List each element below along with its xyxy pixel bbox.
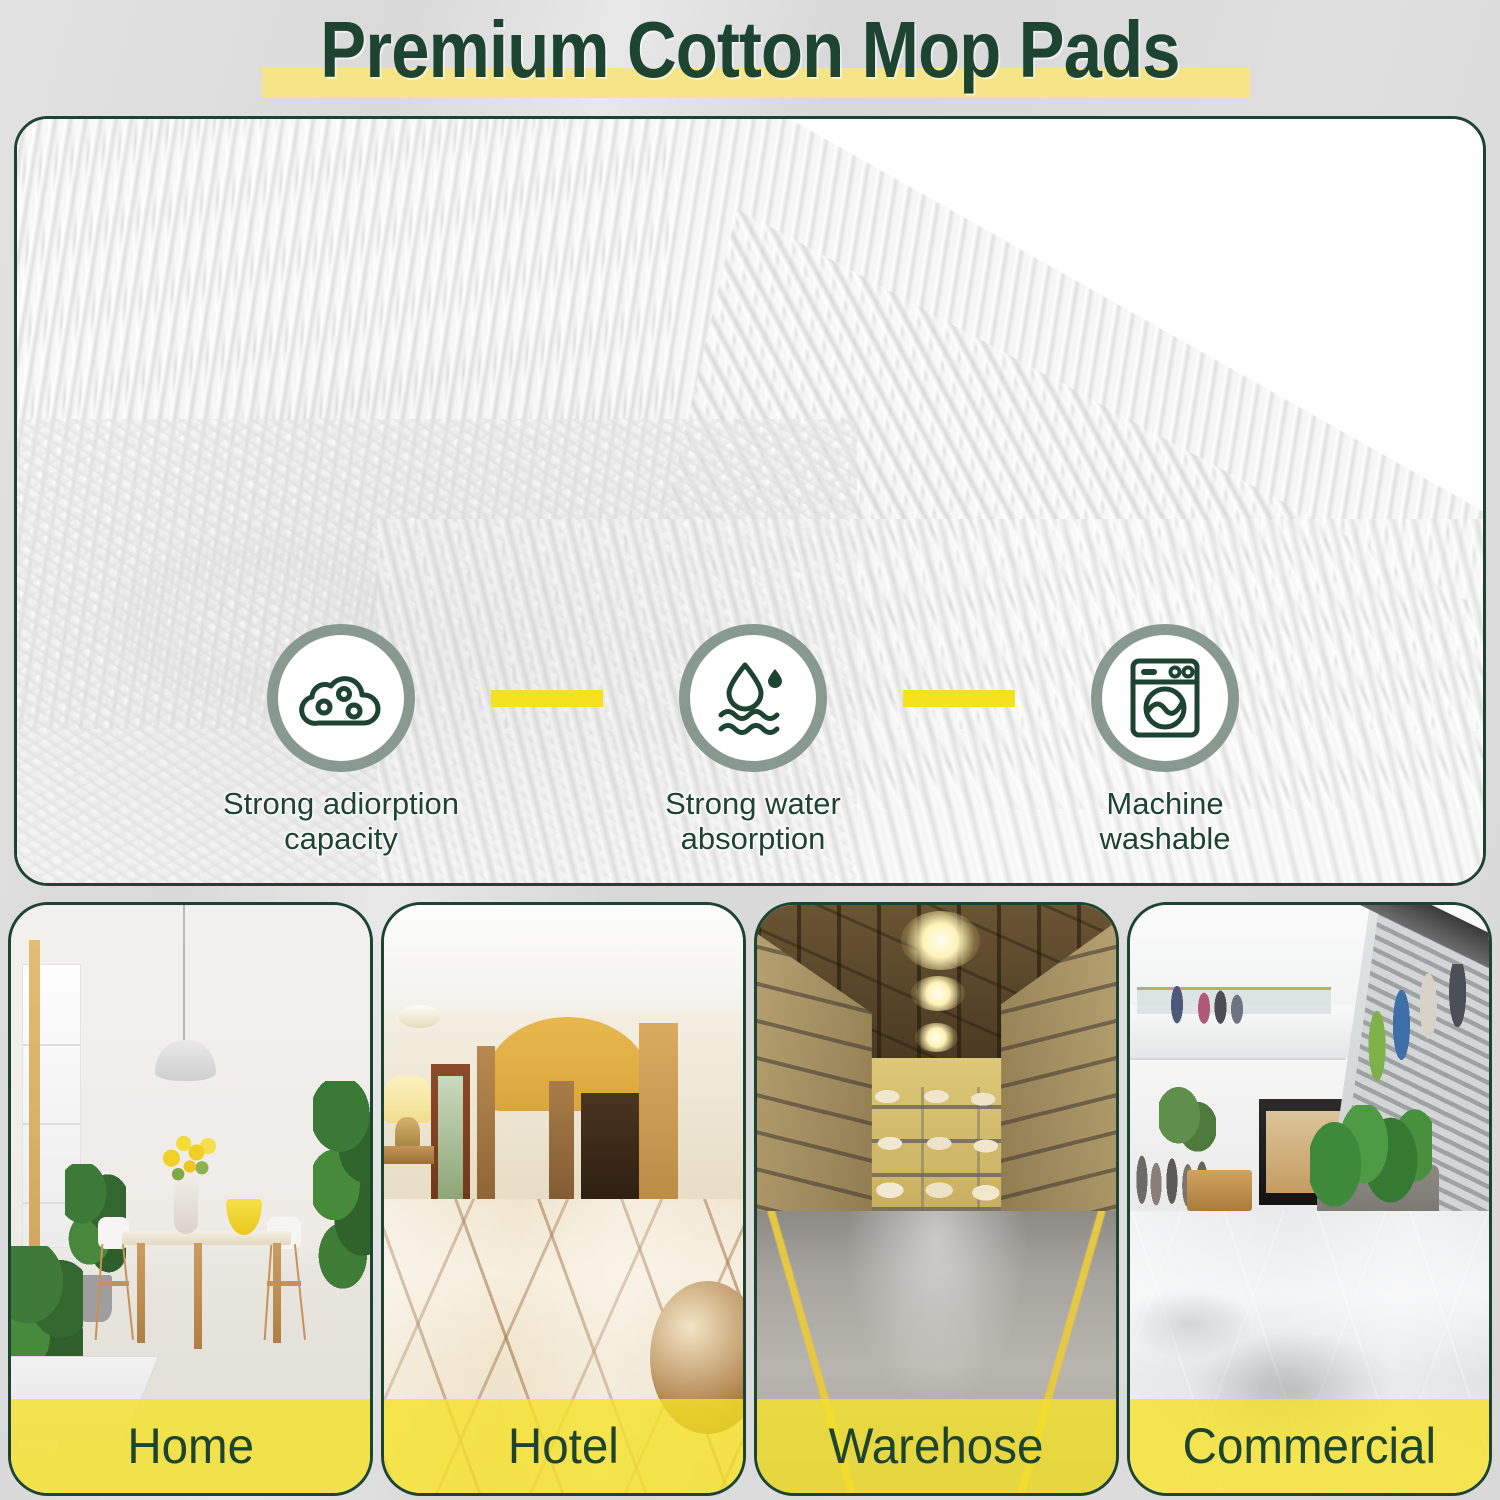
feature-adsorption: Strong adiorption capacity [191, 624, 491, 856]
feature-water-absorption: Strong water absorption [603, 624, 903, 856]
scene-panel-home[interactable]: Home [8, 902, 373, 1496]
use-case-panels: Home [8, 902, 1492, 1496]
product-infographic: Premium Cotton Mop Pads [0, 0, 1500, 1500]
feature-icon-circle [1091, 624, 1239, 772]
scene-label-band: Hotel [384, 1399, 743, 1493]
feature-machine-washable: Machine washable [1015, 624, 1315, 856]
washing-machine-icon [1125, 656, 1205, 740]
feature-label: Strong adiorption capacity [223, 786, 459, 856]
scene-panel-warehouse[interactable]: Warehose [754, 902, 1119, 1496]
scene-label-warehouse: Warehose [829, 1417, 1044, 1475]
feature-label: Strong water absorption [665, 786, 841, 856]
feature-row: Strong adiorption capacity [17, 624, 1486, 886]
dust-cloud-icon [298, 663, 384, 733]
scene-label-band: Warehose [757, 1399, 1116, 1493]
scene-label-hotel: Hotel [508, 1417, 619, 1475]
scene-label-band: Home [11, 1399, 370, 1493]
feature-label: Machine washable [1100, 786, 1231, 856]
scene-label-commercial: Commercial [1183, 1417, 1436, 1475]
connector-dash-1 [491, 690, 603, 707]
scene-label-band: Commercial [1130, 1399, 1489, 1493]
title-banner: Premium Cotton Mop Pads [0, 0, 1500, 112]
page-title: Premium Cotton Mop Pads [105, 2, 1395, 98]
scene-label-home: Home [127, 1417, 254, 1475]
feature-icon-circle [679, 624, 827, 772]
scene-panel-hotel[interactable]: Hotel [381, 902, 746, 1496]
feature-icon-circle [267, 624, 415, 772]
scene-panel-commercial[interactable]: Commercial [1127, 902, 1492, 1496]
hero-product-panel: Strong adiorption capacity [14, 116, 1486, 886]
connector-dash-2 [903, 690, 1015, 707]
water-drop-waves-icon [711, 659, 795, 737]
